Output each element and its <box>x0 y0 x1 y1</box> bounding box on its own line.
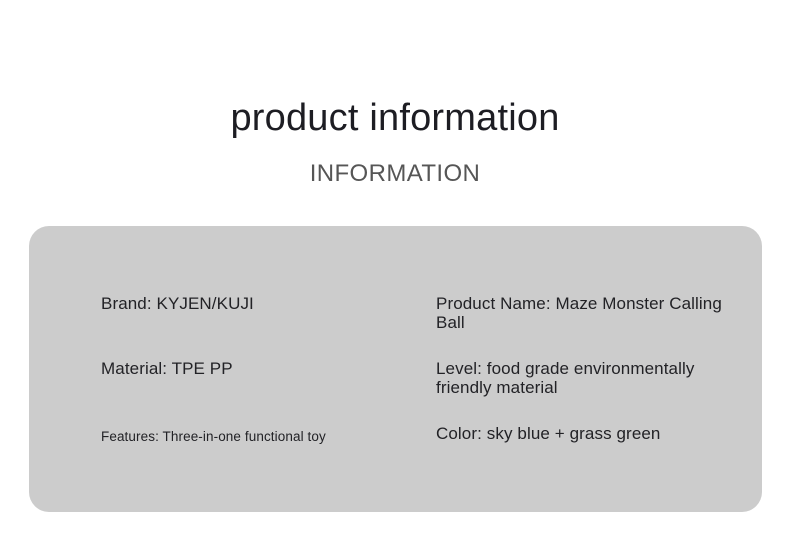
specs-columns: Brand: KYJEN/KUJI Material: TPE PP Featu… <box>29 226 762 512</box>
specs-left-column: Brand: KYJEN/KUJI Material: TPE PP Featu… <box>101 226 401 512</box>
spec-brand: Brand: KYJEN/KUJI <box>101 294 254 313</box>
spec-product-name: Product Name: Maze Monster Calling Ball <box>436 294 726 332</box>
specs-panel: Brand: KYJEN/KUJI Material: TPE PP Featu… <box>29 226 762 512</box>
page-subtitle: INFORMATION <box>0 160 790 188</box>
spec-features: Features: Three-in-one functional toy <box>101 429 326 445</box>
specs-right-column: Product Name: Maze Monster Calling Ball … <box>436 226 726 512</box>
spec-color: Color: sky blue + grass green <box>436 424 660 443</box>
spec-level: Level: food grade environmentally friend… <box>436 359 726 397</box>
spec-material: Material: TPE PP <box>101 359 233 378</box>
product-information-page: product information INFORMATION Brand: K… <box>0 0 790 533</box>
page-title: product information <box>0 96 790 140</box>
